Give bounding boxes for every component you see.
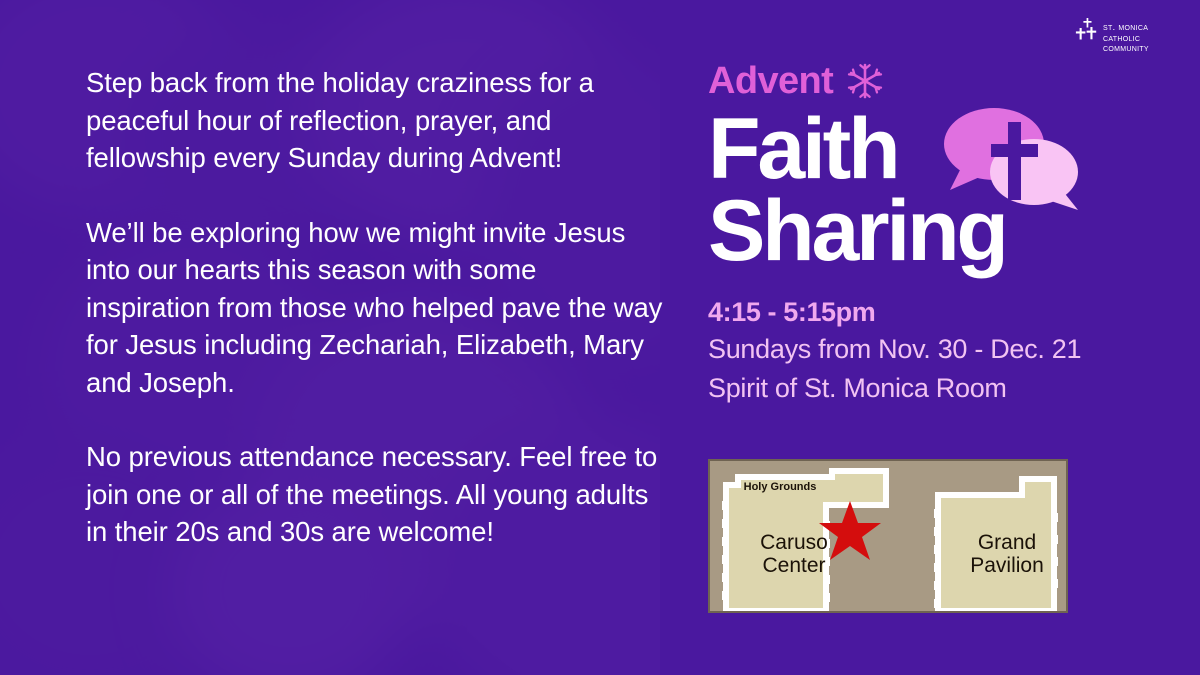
logo-line-1: St. Monica	[1103, 23, 1149, 34]
event-details: 4:15 - 5:15pm Sundays from Nov. 30 - Dec…	[708, 294, 1178, 408]
eyebrow-advent: Advent	[708, 62, 833, 100]
building-grand-pavilion	[938, 479, 1054, 611]
logo-line-3: Community	[1103, 44, 1149, 55]
event-dates: Sundays from Nov. 30 - Dec. 21	[708, 330, 1178, 369]
logo-wordmark: St. Monica Catholic Community	[1103, 23, 1149, 55]
st-monica-logo: St. Monica Catholic Community	[1072, 14, 1188, 60]
snowflake-icon	[845, 61, 885, 101]
eyebrow-row: Advent	[708, 58, 1178, 104]
event-time: 4:15 - 5:15pm	[708, 294, 1178, 330]
headline: Faith Sharing	[708, 108, 1178, 272]
body-copy: Step back from the holiday craziness for…	[86, 64, 666, 551]
body-paragraph-1: Step back from the holiday craziness for…	[86, 64, 666, 177]
advent-faith-sharing-flyer: St. Monica Catholic Community Step back …	[0, 0, 1200, 675]
campus-location-map[interactable]: Holy Grounds Caruso Center Grand Pavilio…	[708, 459, 1068, 613]
event-room: Spirit of St. Monica Room	[708, 369, 1178, 408]
body-paragraph-3: No previous attendance necessary. Feel f…	[86, 438, 666, 551]
body-paragraph-2: We’ll be exploring how we might invite J…	[86, 214, 666, 402]
right-column: Advent	[708, 58, 1178, 408]
headline-line-1: Faith	[708, 108, 1178, 190]
three-crosses-icon	[1072, 17, 1102, 45]
headline-line-2: Sharing	[708, 190, 1178, 272]
map-graphic	[710, 461, 1066, 611]
